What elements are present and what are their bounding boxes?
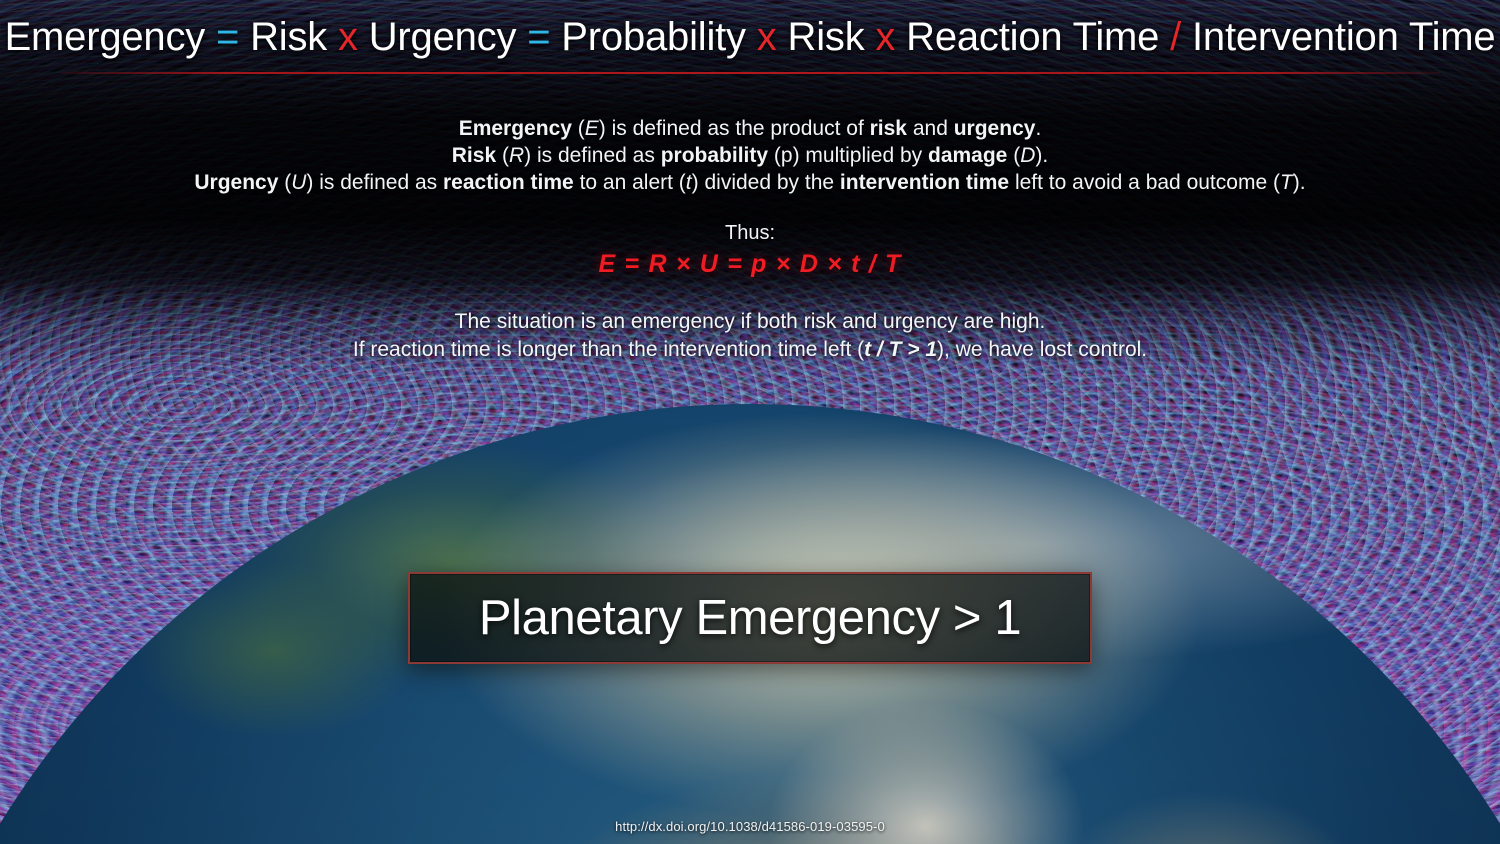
title-divider-rule xyxy=(62,72,1440,74)
equals-operator: = xyxy=(527,15,550,59)
definition-conjunction: multiplied by xyxy=(805,144,922,167)
symbol-R: R xyxy=(509,144,524,167)
title-word: Reaction Time xyxy=(906,15,1159,59)
term-intervention-time: intervention time xyxy=(840,171,1009,194)
emergency-formula: E = R × U = p × D × t / T xyxy=(0,250,1500,279)
definition-line-urgency: Urgency (U) is defined as reaction time … xyxy=(0,169,1500,196)
conclusion-line-1: The situation is an emergency if both ri… xyxy=(0,308,1500,336)
term-emergency: Emergency xyxy=(459,117,572,140)
definition-period: . xyxy=(1035,117,1041,140)
symbol-D: D xyxy=(1020,144,1035,167)
term-probability: probability xyxy=(661,144,768,167)
title-word: Intervention Time xyxy=(1192,15,1495,59)
title-word: Emergency xyxy=(5,15,206,59)
symbol-E: E xyxy=(585,117,599,140)
term-risk: Risk xyxy=(452,144,496,167)
conclusion-block: The situation is an emergency if both ri… xyxy=(0,308,1500,364)
term-urgency: urgency xyxy=(954,117,1036,140)
term-reaction-time: reaction time xyxy=(443,171,574,194)
symbol-p: (p) xyxy=(774,144,800,167)
times-operator: x xyxy=(757,15,777,59)
times-operator: x xyxy=(875,15,895,59)
source-url[interactable]: http://dx.doi.org/10.1038/d41586-019-035… xyxy=(0,819,1500,834)
term-urgency: Urgency xyxy=(194,171,278,194)
term-risk: risk xyxy=(870,117,907,140)
conclusion-line-2-pre: If reaction time is longer than the inte… xyxy=(353,338,864,361)
definitions-block: Emergency (E) is defined as the product … xyxy=(0,115,1500,196)
thus-label: Thus: xyxy=(0,222,1500,245)
planetary-emergency-banner: Planetary Emergency > 1 xyxy=(408,572,1092,664)
definition-text: left to avoid a bad outcome xyxy=(1015,171,1267,194)
definition-conjunction: and xyxy=(913,117,948,140)
definition-text: is defined as xyxy=(537,144,655,167)
definition-line-risk: Risk (R) is defined as probability (p) m… xyxy=(0,142,1500,169)
symbol-U: U xyxy=(291,171,306,194)
page-title: Emergency = Risk x Urgency = Probability… xyxy=(0,14,1500,60)
definition-text: to an alert xyxy=(580,171,673,194)
equals-operator: = xyxy=(216,15,239,59)
title-word: Urgency xyxy=(369,15,517,59)
conclusion-line-2-post: ), we have lost control. xyxy=(937,338,1147,361)
times-operator: x xyxy=(338,15,358,59)
definition-text: is defined as the product of xyxy=(612,117,864,140)
inequality-t-over-T: t / T > 1 xyxy=(864,338,937,361)
definition-text: is defined as xyxy=(319,171,437,194)
definition-period: . xyxy=(1042,144,1048,167)
definition-line-emergency: Emergency (E) is defined as the product … xyxy=(0,115,1500,142)
slide-canvas: Emergency = Risk x Urgency = Probability… xyxy=(0,0,1500,844)
title-word: Risk xyxy=(788,15,865,59)
divide-operator: / xyxy=(1170,15,1181,59)
term-damage: damage xyxy=(928,144,1007,167)
title-word: Risk xyxy=(250,15,327,59)
definition-period: . xyxy=(1300,171,1306,194)
symbol-T: T xyxy=(1280,171,1293,194)
definition-text: divided by the xyxy=(704,171,834,194)
banner-label: Planetary Emergency > 1 xyxy=(479,590,1021,646)
symbol-t: t xyxy=(686,171,692,194)
conclusion-line-2: If reaction time is longer than the inte… xyxy=(0,336,1500,364)
title-word: Probability xyxy=(561,15,746,59)
